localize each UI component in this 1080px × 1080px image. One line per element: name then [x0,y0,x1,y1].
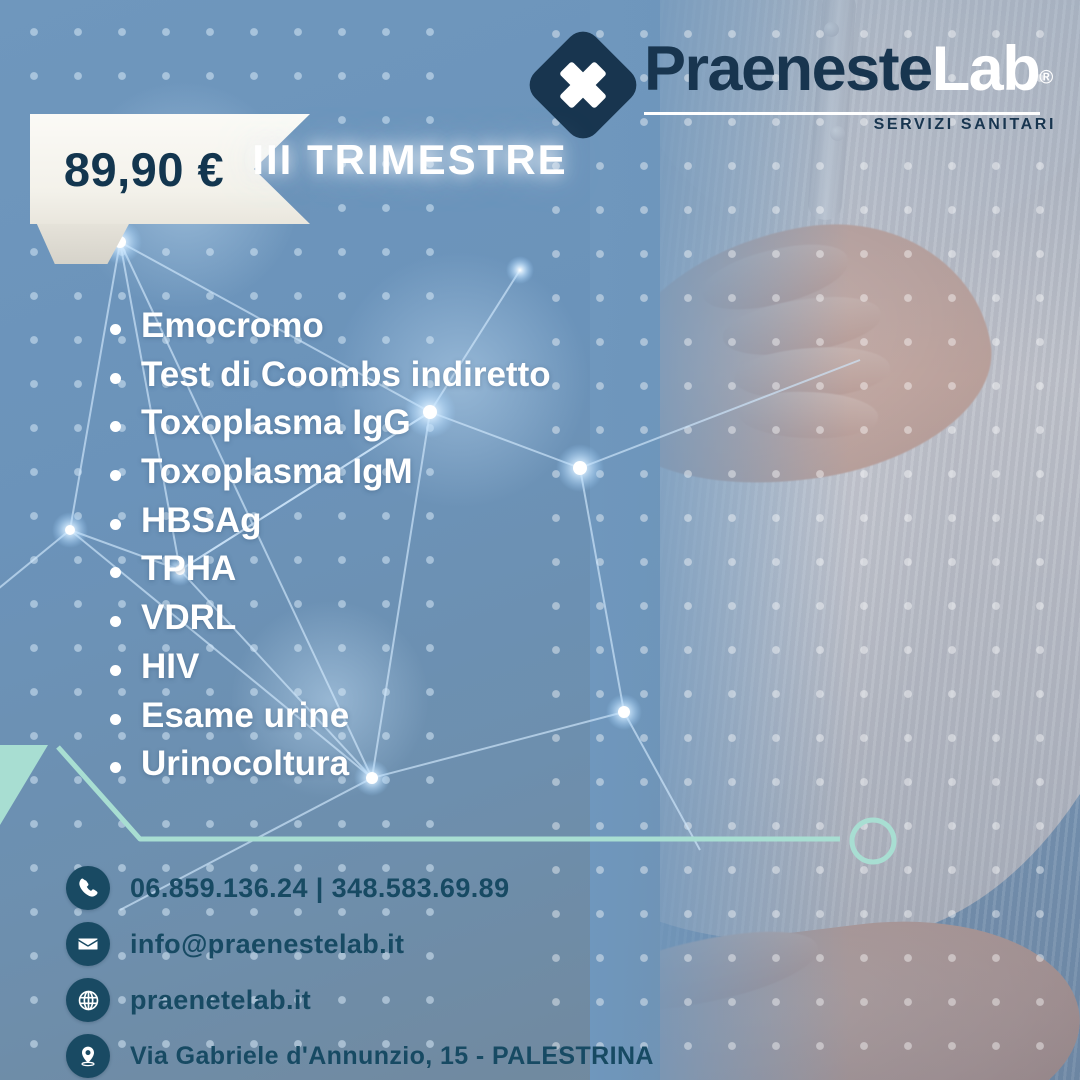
logo-name-primary: Praeneste [644,34,932,104]
logo-divider-rule [644,112,1040,115]
list-item: Esame urine [105,695,551,738]
mint-circle-endpoint [852,820,894,862]
website-url: praenetelab.it [130,985,311,1016]
contact-row-phone[interactable]: 06.859.136.24 | 348.583.69.89 [66,866,654,910]
street-address: Via Gabriele d'Annunzio, 15 - PALESTRINA [130,1042,654,1071]
list-item: HBSAg [105,500,551,543]
mint-line [58,747,840,839]
location-pin-icon [66,1034,110,1078]
envelope-icon [66,922,110,966]
brand-logo[interactable]: PraenesteLab® SERVIZI SANITARI [540,28,1060,136]
promotional-poster: PraenesteLab® SERVIZI SANITARI 89,90 € I… [0,0,1080,1080]
contact-row-email[interactable]: info@praenestelab.it [66,922,654,966]
list-item: Toxoplasma IgM [105,451,551,494]
registered-trademark-icon: ® [1039,68,1053,89]
email-address: info@praenestelab.it [130,929,404,960]
logo-tagline: SERVIZI SANITARI [874,116,1056,134]
contact-row-address[interactable]: Via Gabriele d'Annunzio, 15 - PALESTRINA [66,1034,654,1078]
contact-block: 06.859.136.24 | 348.583.69.89 info@praen… [66,866,654,1080]
medical-cross-diamond-icon [522,24,644,146]
logo-name-secondary: Lab [932,34,1040,104]
logo-wordmark: PraenesteLab® [644,38,1053,101]
page-title: III TRIMESTRE [0,136,820,184]
phone-number: 06.859.136.24 | 348.583.69.89 [130,873,510,904]
list-item: HIV [105,646,551,689]
mint-parallelogram [0,745,48,835]
list-item: Emocromo [105,305,551,348]
list-item: Toxoplasma IgG [105,402,551,445]
mint-accent-decoration [0,735,920,875]
contact-row-website[interactable]: praenetelab.it [66,978,654,1022]
list-item: Test di Coombs indiretto [105,354,551,397]
list-item: VDRL [105,597,551,640]
list-item: TPHA [105,548,551,591]
exam-list: Emocromo Test di Coombs indiretto Toxopl… [105,305,551,792]
phone-icon [66,866,110,910]
globe-icon [66,978,110,1022]
